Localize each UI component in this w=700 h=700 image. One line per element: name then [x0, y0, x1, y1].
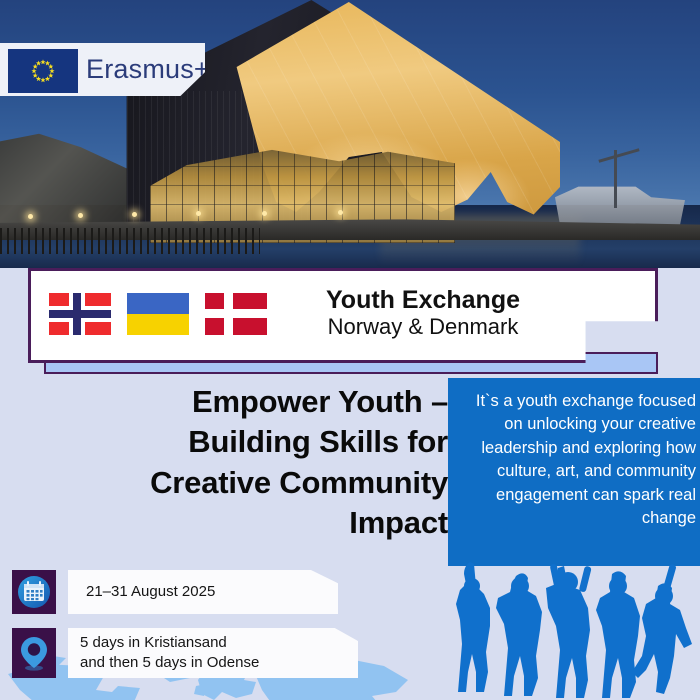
hero-photo: [0, 0, 700, 268]
erasmus-wordmark: Erasmus+: [86, 54, 210, 85]
headline-line-4: Impact: [100, 503, 448, 543]
page-title: Empower Youth – Building Skills for Crea…: [100, 382, 448, 543]
banner-card: Youth Exchange Norway & Denmark: [28, 268, 658, 363]
erasmus-logo-card: Erasmus+: [0, 43, 205, 96]
description-text: It`s a youth exchange focused on unlocki…: [448, 378, 700, 531]
headline-line-2: Building Skills for: [100, 422, 448, 462]
norway-flag-icon: [49, 293, 111, 335]
eu-stars-icon: [23, 57, 63, 85]
description-box: It`s a youth exchange focused on unlocki…: [448, 378, 700, 566]
eu-flag-icon: [8, 49, 78, 93]
date-label: 21–31 August 2025: [86, 582, 215, 602]
ukraine-flag-icon: [127, 293, 189, 335]
jumping-youth-silhouettes: [440, 560, 700, 700]
harbour-crane-icon: [596, 150, 642, 208]
flag-group: [49, 293, 267, 335]
headline-line-1: Empower Youth –: [100, 382, 448, 422]
pier-piles: [0, 228, 260, 254]
banner-title: Youth Exchange: [301, 286, 545, 314]
denmark-flag-icon: [205, 293, 267, 335]
banner-subtitle: Norway & Denmark: [301, 314, 545, 340]
location-plate: 5 days in Kristiansand and then 5 days i…: [68, 628, 358, 678]
poster-root: Erasmus+: [0, 0, 700, 700]
street-lamps: [0, 210, 420, 230]
headline-line-3: Creative Community: [100, 463, 448, 503]
calendar-icon: [12, 570, 56, 614]
location-label: 5 days in Kristiansand and then 5 days i…: [80, 633, 259, 673]
date-plate: 21–31 August 2025: [68, 570, 338, 614]
map-pin-icon: [12, 628, 56, 678]
